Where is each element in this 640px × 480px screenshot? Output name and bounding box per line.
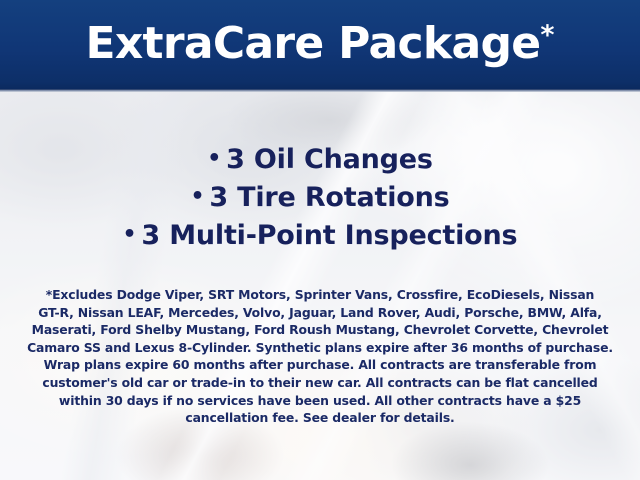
- disclaimer-line: customer's old car or trade-in to their …: [24, 374, 616, 392]
- benefit-item: •3 Tire Rotations: [0, 178, 640, 216]
- bullet-icon: •: [207, 146, 226, 171]
- page-title: ExtraCare Package*: [85, 22, 554, 68]
- benefit-item: •3 Oil Changes: [0, 140, 640, 178]
- disclaimer-fine-print: *Excludes Dodge Viper, SRT Motors, Sprin…: [24, 286, 616, 427]
- bullet-icon: •: [190, 184, 209, 209]
- header-banner: ExtraCare Package*: [0, 0, 640, 89]
- benefit-label: 3 Tire Rotations: [209, 182, 449, 213]
- disclaimer-line: Wrap plans expire 60 months after purcha…: [24, 356, 616, 374]
- benefits-list: •3 Oil Changes •3 Tire Rotations •3 Mult…: [0, 140, 640, 254]
- disclaimer-line: GT-R, Nissan LEAF, Mercedes, Volvo, Jagu…: [24, 304, 616, 322]
- disclaimer-line: Camaro SS and Lexus 8-Cylinder. Syntheti…: [24, 339, 616, 357]
- disclaimer-line: within 30 days if no services have been …: [24, 392, 616, 410]
- disclaimer-line: Maserati, Ford Shelby Mustang, Ford Rous…: [24, 321, 616, 339]
- extracare-promo-card: ExtraCare Package* •3 Oil Changes •3 Tir…: [0, 0, 640, 480]
- disclaimer-line: *Excludes Dodge Viper, SRT Motors, Sprin…: [24, 286, 616, 304]
- bullet-icon: •: [123, 222, 142, 247]
- benefit-item: •3 Multi-Point Inspections: [0, 216, 640, 254]
- benefit-label: 3 Multi-Point Inspections: [141, 220, 517, 251]
- disclaimer-line: cancellation fee. See dealer for details…: [24, 409, 616, 427]
- title-asterisk: *: [540, 20, 554, 51]
- header-underline-divider: [0, 89, 640, 92]
- page-title-text: ExtraCare Package: [85, 18, 540, 69]
- benefit-label: 3 Oil Changes: [226, 144, 433, 175]
